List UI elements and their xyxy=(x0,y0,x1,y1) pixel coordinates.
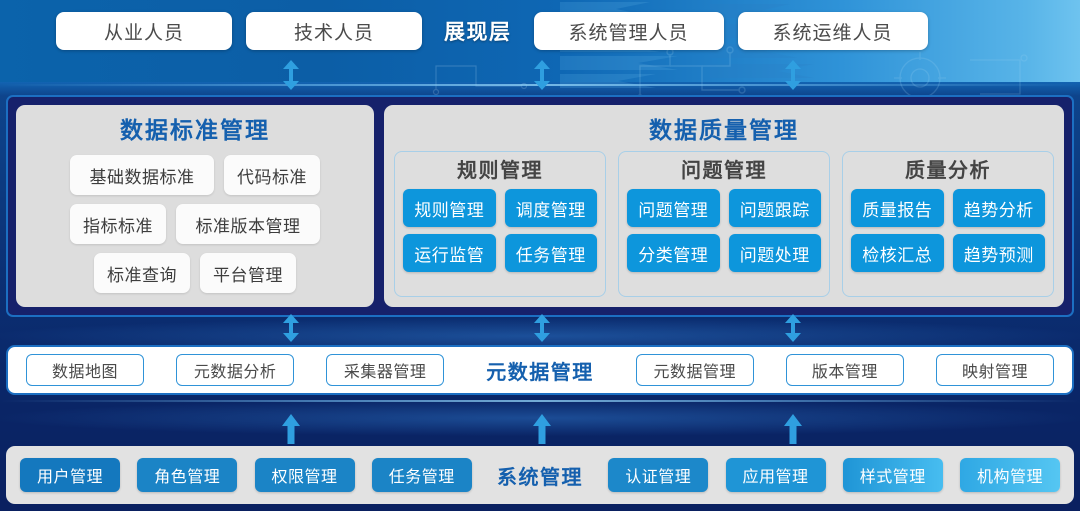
quality-group-quality-analysis: 质量分析 质量报告 趋势分析 检核汇总 趋势预测 xyxy=(842,151,1054,297)
quality-chip-quality-report[interactable]: 质量报告 xyxy=(851,189,944,227)
double-arrow-vertical-icon xyxy=(282,60,300,90)
std-chip-platform-management[interactable]: 平台管理 xyxy=(200,253,296,293)
chip-label: 认证管理 xyxy=(625,463,691,487)
metadata-layer-title: 元数据管理 xyxy=(476,356,604,385)
arrow-up-icon xyxy=(282,414,300,444)
std-chip-standard-query[interactable]: 标准查询 xyxy=(94,253,190,293)
chip-label: 平台管理 xyxy=(213,261,283,286)
quality-chip-issue-management[interactable]: 问题管理 xyxy=(627,189,720,227)
chip-label: 调度管理 xyxy=(516,196,586,221)
double-arrow-vertical-icon xyxy=(282,314,300,342)
quality-group-issue-management: 问题管理 问题管理 问题跟踪 分类管理 问题处理 xyxy=(618,151,830,297)
quality-group-rule-management: 规则管理 规则管理 调度管理 运行监管 任务管理 xyxy=(394,151,606,297)
group-items: 质量报告 趋势分析 检核汇总 趋势预测 xyxy=(851,186,1045,272)
chip-label: 角色管理 xyxy=(154,463,220,487)
double-arrow-vertical-icon xyxy=(784,314,802,342)
std-chip-basic-data-standard[interactable]: 基础数据标准 xyxy=(70,155,214,195)
sys-chip-application-management[interactable]: 应用管理 xyxy=(726,458,826,492)
double-arrow-vertical-icon xyxy=(533,314,551,342)
chip-label: 问题处理 xyxy=(740,241,810,266)
meta-chip-data-map[interactable]: 数据地图 xyxy=(26,354,144,386)
core-layer-frame: 数据标准管理 基础数据标准 代码标准 指标标准 标准版本管理 标准查询 xyxy=(6,95,1074,317)
meta-chip-metadata-analysis[interactable]: 元数据分析 xyxy=(176,354,294,386)
quality-chip-rule-management[interactable]: 规则管理 xyxy=(403,189,496,227)
chip-label: 任务管理 xyxy=(389,463,455,487)
chip-label: 机构管理 xyxy=(977,463,1043,487)
chip-label: 任务管理 xyxy=(516,241,586,266)
data-standard-title: 数据标准管理 xyxy=(26,113,364,147)
quality-chip-issue-tracking[interactable]: 问题跟踪 xyxy=(729,189,822,227)
meta-chip-mapping-management[interactable]: 映射管理 xyxy=(936,354,1054,386)
chip-label: 应用管理 xyxy=(742,463,808,487)
group-title: 规则管理 xyxy=(403,156,597,186)
chip-label: 映射管理 xyxy=(962,358,1028,382)
node-pattern-icon xyxy=(430,56,550,96)
presentation-layer-row: 从业人员 技术人员 展现层 系统管理人员 系统运维人员 xyxy=(0,0,1080,62)
data-quality-panel: 数据质量管理 规则管理 规则管理 调度管理 运行监管 xyxy=(384,105,1064,307)
chip-label: 运行监管 xyxy=(414,241,484,266)
chip-label: 问题跟踪 xyxy=(740,196,810,221)
divider-stripe-bottom xyxy=(0,400,1080,402)
chip-label: 指标标准 xyxy=(83,212,153,237)
chip-label: 标准查询 xyxy=(107,261,177,286)
chip-label: 标准版本管理 xyxy=(196,212,301,237)
data-standard-panel: 数据标准管理 基础数据标准 代码标准 指标标准 标准版本管理 标准查询 xyxy=(16,105,374,307)
chip-label: 代码标准 xyxy=(237,163,307,188)
chip-label: 数据地图 xyxy=(52,358,118,382)
group-items: 规则管理 调度管理 运行监管 任务管理 xyxy=(403,186,597,272)
metadata-layer-row: 数据地图 元数据分析 采集器管理 元数据管理 元数据管理 版本管理 映射管理 xyxy=(6,345,1074,395)
group-items: 问题管理 问题跟踪 分类管理 问题处理 xyxy=(627,186,821,272)
system-layer-title: 系统管理 xyxy=(489,461,591,490)
quality-chip-schedule-management[interactable]: 调度管理 xyxy=(505,189,598,227)
role-label: 系统管理人员 xyxy=(568,18,688,45)
group-title: 问题管理 xyxy=(627,156,821,186)
quality-chip-classification-management[interactable]: 分类管理 xyxy=(627,234,720,272)
quality-chip-task-management[interactable]: 任务管理 xyxy=(505,234,598,272)
role-chip-system-ops[interactable]: 系统运维人员 xyxy=(738,12,928,50)
sys-chip-task-management[interactable]: 任务管理 xyxy=(372,458,472,492)
role-label: 从业人员 xyxy=(104,18,184,45)
chip-label: 样式管理 xyxy=(860,463,926,487)
meta-chip-collector-management[interactable]: 采集器管理 xyxy=(326,354,444,386)
chip-label: 质量报告 xyxy=(862,196,932,221)
chip-label: 检核汇总 xyxy=(862,241,932,266)
sys-chip-org-management[interactable]: 机构管理 xyxy=(960,458,1060,492)
meta-chip-version-management[interactable]: 版本管理 xyxy=(786,354,904,386)
quality-chip-trend-forecast[interactable]: 趋势预测 xyxy=(953,234,1046,272)
data-quality-title: 数据质量管理 xyxy=(394,113,1054,147)
chip-label: 基础数据标准 xyxy=(90,163,195,188)
double-arrow-vertical-icon xyxy=(533,60,551,90)
role-label: 技术人员 xyxy=(294,18,374,45)
quality-chip-trend-analysis[interactable]: 趋势分析 xyxy=(953,189,1046,227)
arrow-up-icon xyxy=(533,414,551,444)
std-chip-indicator-standard[interactable]: 指标标准 xyxy=(70,204,166,244)
chip-label: 趋势分析 xyxy=(964,196,1034,221)
chip-label: 规则管理 xyxy=(414,196,484,221)
sys-chip-auth-management[interactable]: 认证管理 xyxy=(608,458,708,492)
chip-label: 问题管理 xyxy=(638,196,708,221)
quality-chip-runtime-supervision[interactable]: 运行监管 xyxy=(403,234,496,272)
chip-label: 采集器管理 xyxy=(344,358,427,382)
chip-label: 元数据分析 xyxy=(194,358,277,382)
presentation-layer-title: 展现层 xyxy=(436,16,520,46)
sys-chip-style-management[interactable]: 样式管理 xyxy=(843,458,943,492)
chip-label: 版本管理 xyxy=(812,358,878,382)
system-layer-row: 用户管理 角色管理 权限管理 任务管理 系统管理 认证管理 应用管理 样式管理 … xyxy=(6,446,1074,504)
architecture-diagram: 从业人员 技术人员 展现层 系统管理人员 系统运维人员 数据标准管理 基础数据标… xyxy=(0,0,1080,511)
data-quality-groups: 规则管理 规则管理 调度管理 运行监管 任务管理 xyxy=(394,151,1054,297)
group-title: 质量分析 xyxy=(851,156,1045,186)
role-chip-practitioner[interactable]: 从业人员 xyxy=(56,12,232,50)
arrow-up-icon xyxy=(784,414,802,444)
chip-label: 分类管理 xyxy=(638,241,708,266)
std-chip-version-management[interactable]: 标准版本管理 xyxy=(176,204,320,244)
sys-chip-user-management[interactable]: 用户管理 xyxy=(20,458,120,492)
sys-chip-permission-management[interactable]: 权限管理 xyxy=(255,458,355,492)
role-chip-system-admin[interactable]: 系统管理人员 xyxy=(534,12,724,50)
quality-chip-issue-handling[interactable]: 问题处理 xyxy=(729,234,822,272)
quality-chip-audit-summary[interactable]: 检核汇总 xyxy=(851,234,944,272)
sys-chip-role-management[interactable]: 角色管理 xyxy=(137,458,237,492)
chip-label: 用户管理 xyxy=(37,463,103,487)
data-standard-items: 基础数据标准 代码标准 指标标准 标准版本管理 标准查询 平台管理 xyxy=(26,151,364,293)
double-arrow-vertical-icon xyxy=(784,60,802,90)
chip-label: 趋势预测 xyxy=(964,241,1034,266)
role-label: 系统运维人员 xyxy=(772,18,892,45)
meta-chip-metadata-management[interactable]: 元数据管理 xyxy=(636,354,754,386)
chip-label: 权限管理 xyxy=(271,463,337,487)
std-chip-code-standard[interactable]: 代码标准 xyxy=(224,155,320,195)
role-chip-technician[interactable]: 技术人员 xyxy=(246,12,422,50)
chip-label: 元数据管理 xyxy=(654,358,737,382)
